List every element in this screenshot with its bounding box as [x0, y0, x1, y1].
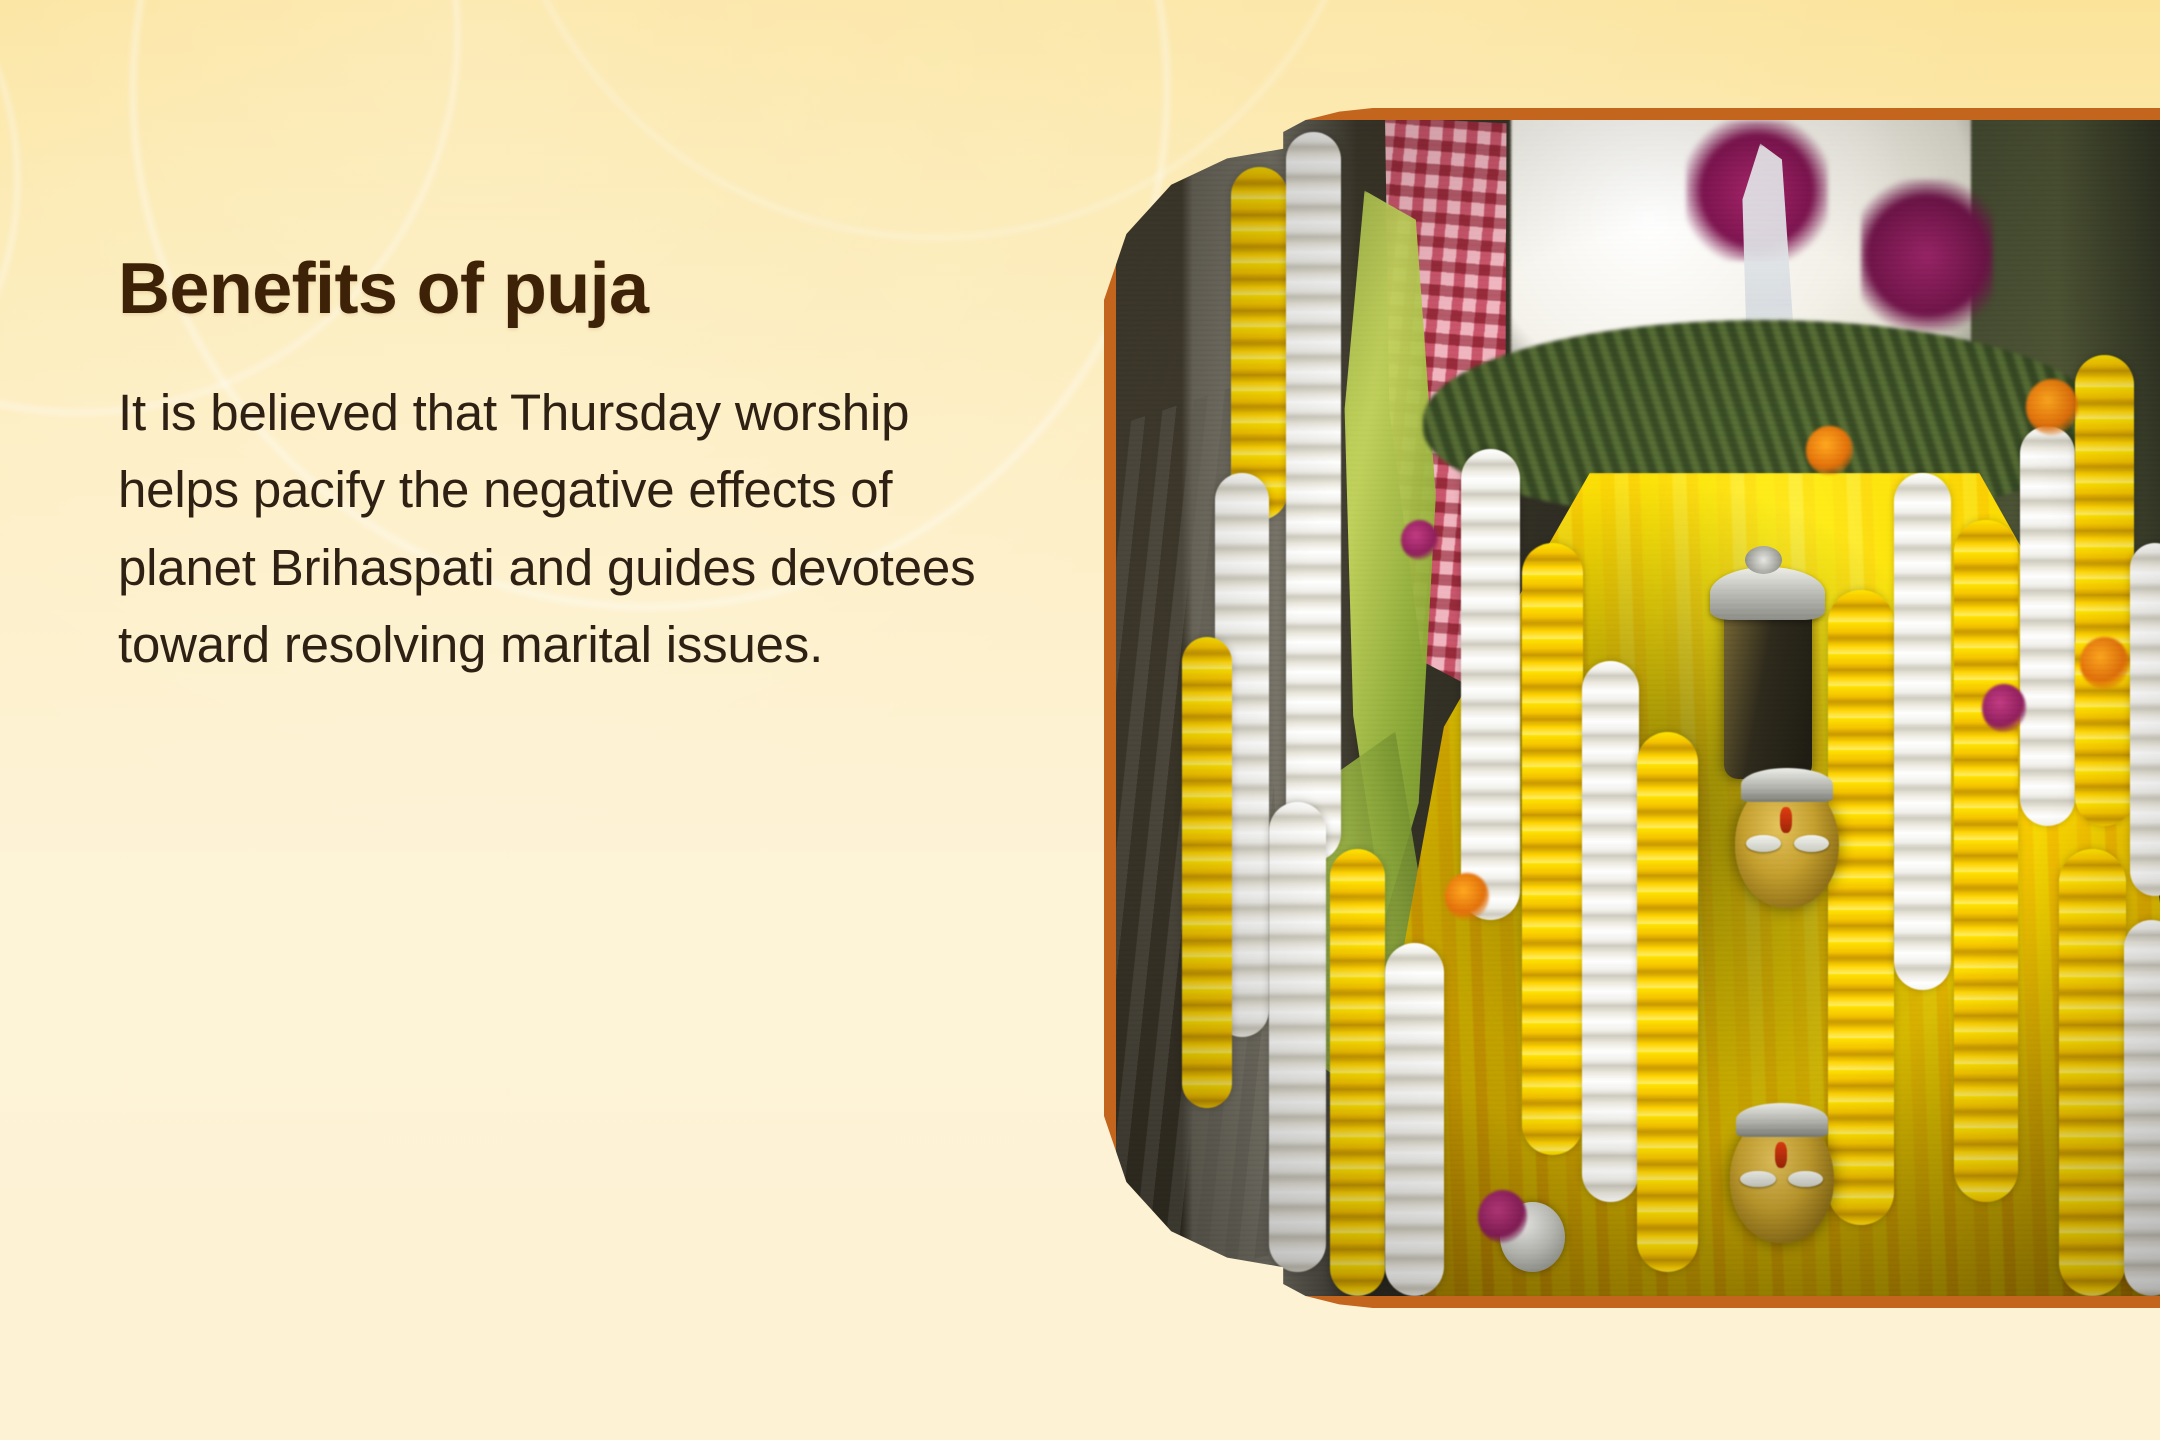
- slide-canvas: Benefits of puja It is believed that Thu…: [0, 0, 2160, 1440]
- photo-frame: [1104, 108, 2160, 1308]
- text-column: Benefits of puja It is believed that Thu…: [118, 252, 978, 684]
- circle-outline-decoration-3: [0, 0, 20, 500]
- page-title: Benefits of puja: [118, 252, 978, 328]
- photo-vignette: [1116, 120, 2160, 1296]
- puja-photo: [1116, 120, 2160, 1296]
- body-paragraph: It is believed that Thursday worship hel…: [118, 374, 978, 684]
